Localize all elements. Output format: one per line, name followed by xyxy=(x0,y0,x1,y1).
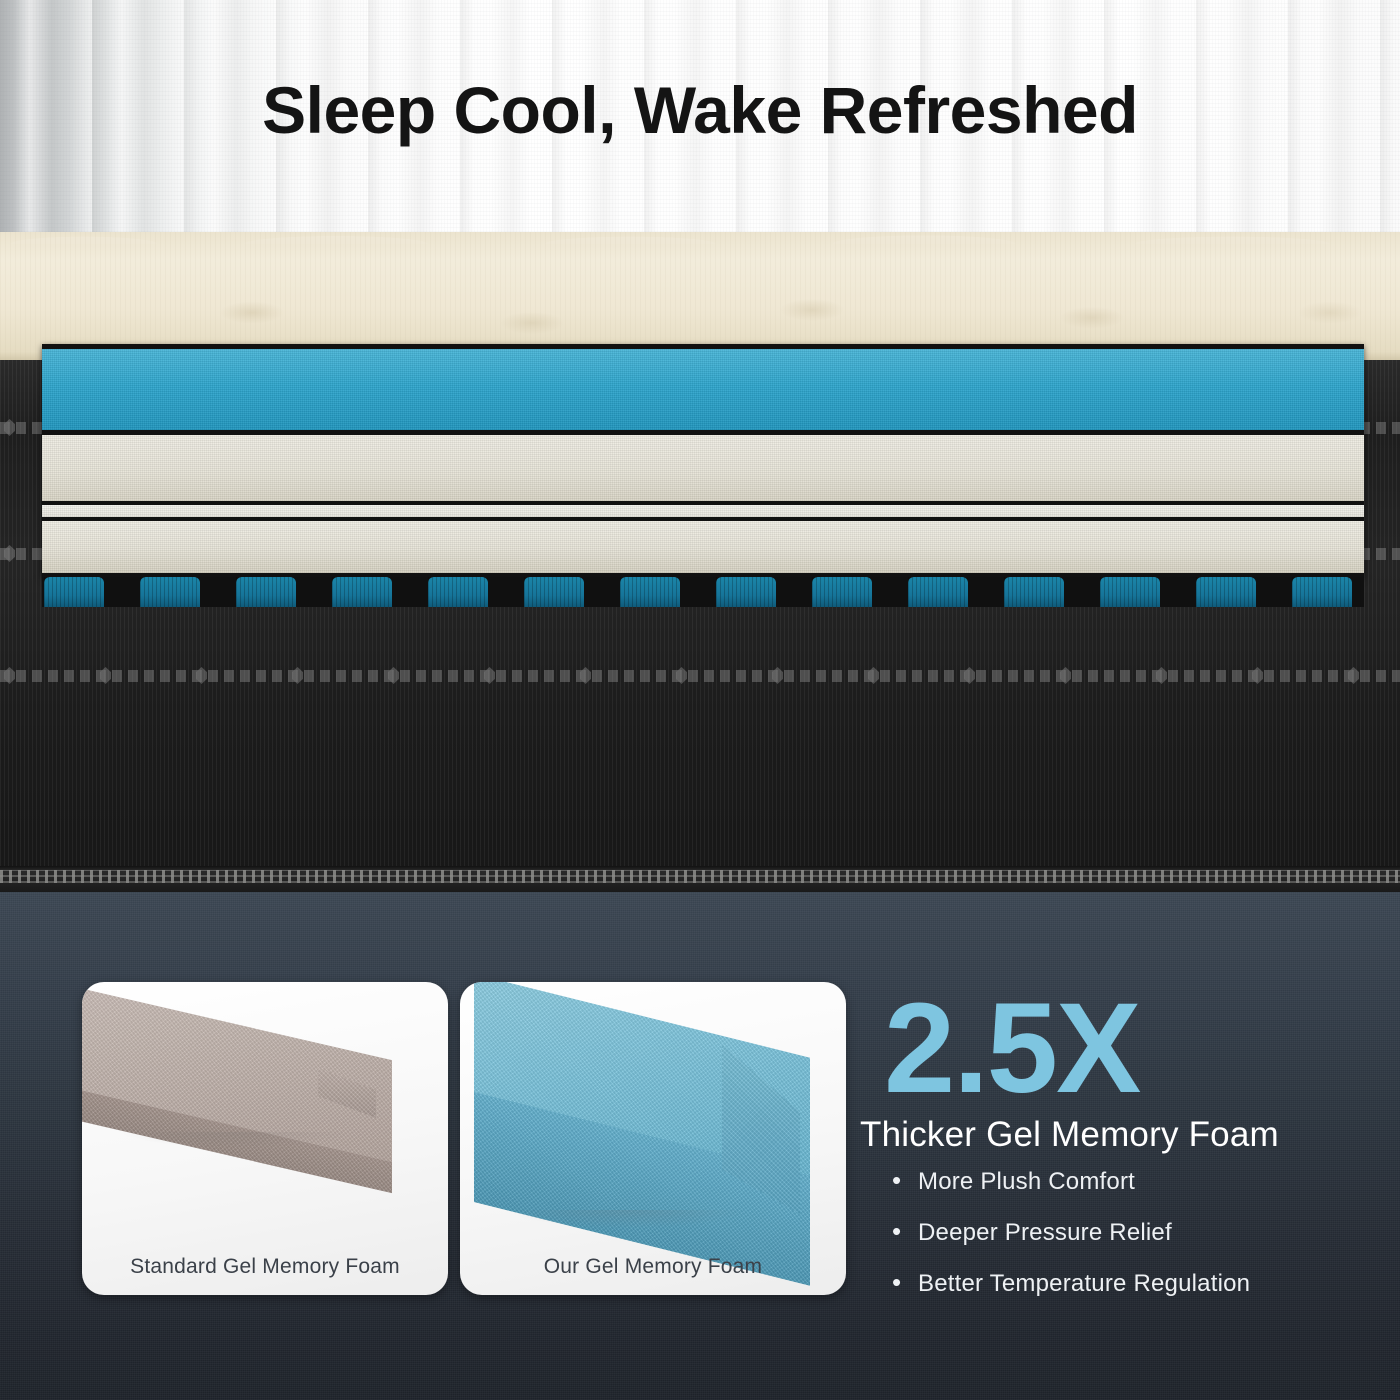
mattress-bottom-trim xyxy=(0,866,1400,892)
pocket-spring xyxy=(1196,577,1256,607)
pocket-spring xyxy=(1004,577,1064,607)
seam-stitch xyxy=(4,545,15,562)
seam-stitch xyxy=(1252,667,1263,684)
pocket-spring xyxy=(428,577,488,607)
seam-stitch xyxy=(964,667,975,684)
seam-stitch xyxy=(100,667,111,684)
pocket-spring xyxy=(716,577,776,607)
pocket-spring xyxy=(332,577,392,607)
seam-stitch xyxy=(292,667,303,684)
mattress-hero-scene: Sleep Cool, Wake Refreshed xyxy=(0,0,1400,900)
list-item: More Plush Comfort xyxy=(886,1168,1386,1196)
seam-stitch xyxy=(772,667,783,684)
mattress-seam-row xyxy=(0,670,1400,682)
pocket-spring xyxy=(524,577,584,607)
seam-stitch xyxy=(868,667,879,684)
claim-subheadline: Thicker Gel Memory Foam xyxy=(860,1115,1380,1155)
layer-comfort-foam-upper xyxy=(42,435,1364,501)
foam-card-ours-caption: Our Gel Memory Foam xyxy=(460,1255,846,1279)
seam-stitch xyxy=(4,419,15,436)
layer-transition xyxy=(42,505,1364,517)
mattress-cutaway xyxy=(42,344,1364,577)
thickness-multiplier: 2.5X xyxy=(884,985,1364,1113)
pocket-spring xyxy=(236,577,296,607)
seam-stitch xyxy=(676,667,687,684)
pocket-spring xyxy=(1292,577,1352,607)
seam-stitch xyxy=(580,667,591,684)
foam-card-standard-caption: Standard Gel Memory Foam xyxy=(82,1255,448,1279)
product-infographic: Sleep Cool, Wake Refreshed Standard Gel … xyxy=(0,0,1400,1400)
pocket-spring xyxy=(908,577,968,607)
mattress-quilted-top xyxy=(0,232,1400,362)
pocket-spring xyxy=(1100,577,1160,607)
pocket-spring xyxy=(44,577,104,607)
list-item: Better Temperature Regulation xyxy=(886,1270,1386,1298)
seam-stitch xyxy=(1060,667,1071,684)
pocket-spring xyxy=(140,577,200,607)
pocket-spring xyxy=(812,577,872,607)
seam-stitch xyxy=(388,667,399,684)
our-foam-shadow xyxy=(480,1210,810,1260)
benefit-list: More Plush Comfort Deeper Pressure Relie… xyxy=(886,1168,1386,1321)
pocket-spring xyxy=(620,577,680,607)
standard-foam-shadow xyxy=(82,1132,402,1174)
foam-card-ours: Our Gel Memory Foam xyxy=(460,982,846,1295)
list-item: Deeper Pressure Relief xyxy=(886,1219,1386,1247)
seam-stitch xyxy=(1156,667,1167,684)
layer-support-foam xyxy=(42,521,1364,573)
hero-headline: Sleep Cool, Wake Refreshed xyxy=(0,72,1400,148)
seam-stitch xyxy=(196,667,207,684)
seam-stitch xyxy=(484,667,495,684)
layer-gel-memory-foam xyxy=(42,349,1364,430)
pocket-spring-row xyxy=(42,577,1364,607)
seam-stitch xyxy=(4,667,15,684)
foam-card-standard: Standard Gel Memory Foam xyxy=(82,982,448,1295)
seam-stitch xyxy=(1348,667,1359,684)
